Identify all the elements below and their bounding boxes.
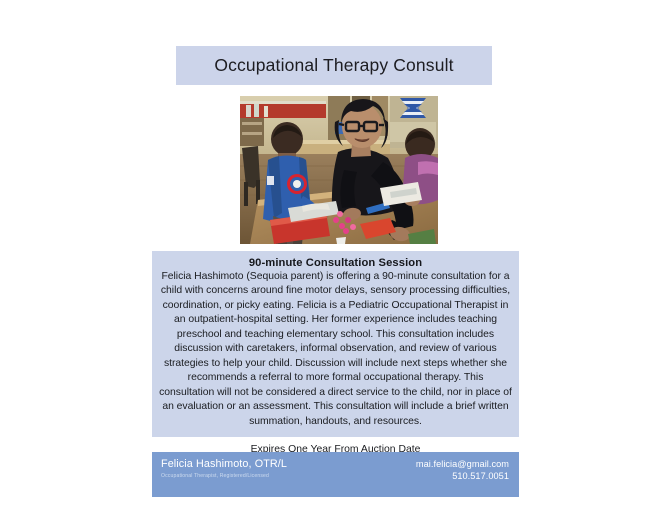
offer-details-panel: 90-minute Consultation Session Felicia H…: [152, 251, 519, 437]
offer-description: Felicia Hashimoto (Sequoia parent) is of…: [152, 270, 519, 429]
contact-email[interactable]: mai.felicia@gmail.com: [416, 458, 509, 470]
classroom-photo: [240, 96, 438, 244]
footer-identity: Felicia Hashimoto, OTR/L Occupational Th…: [161, 458, 287, 480]
page-title: Occupational Therapy Consult: [214, 55, 453, 76]
contact-credential: Occupational Therapist, Registered/Licen…: [161, 472, 287, 480]
flyer-title-bar: Occupational Therapy Consult: [176, 46, 492, 85]
offer-heading: 90-minute Consultation Session: [152, 257, 519, 269]
footer-contact-info: mai.felicia@gmail.com 510.517.0051: [416, 458, 509, 482]
contact-footer-bar: Felicia Hashimoto, OTR/L Occupational Th…: [152, 452, 519, 497]
flyer-page: Occupational Therapy Consult: [0, 0, 672, 510]
contact-phone[interactable]: 510.517.0051: [416, 470, 509, 482]
contact-name: Felicia Hashimoto, OTR/L: [161, 458, 287, 471]
